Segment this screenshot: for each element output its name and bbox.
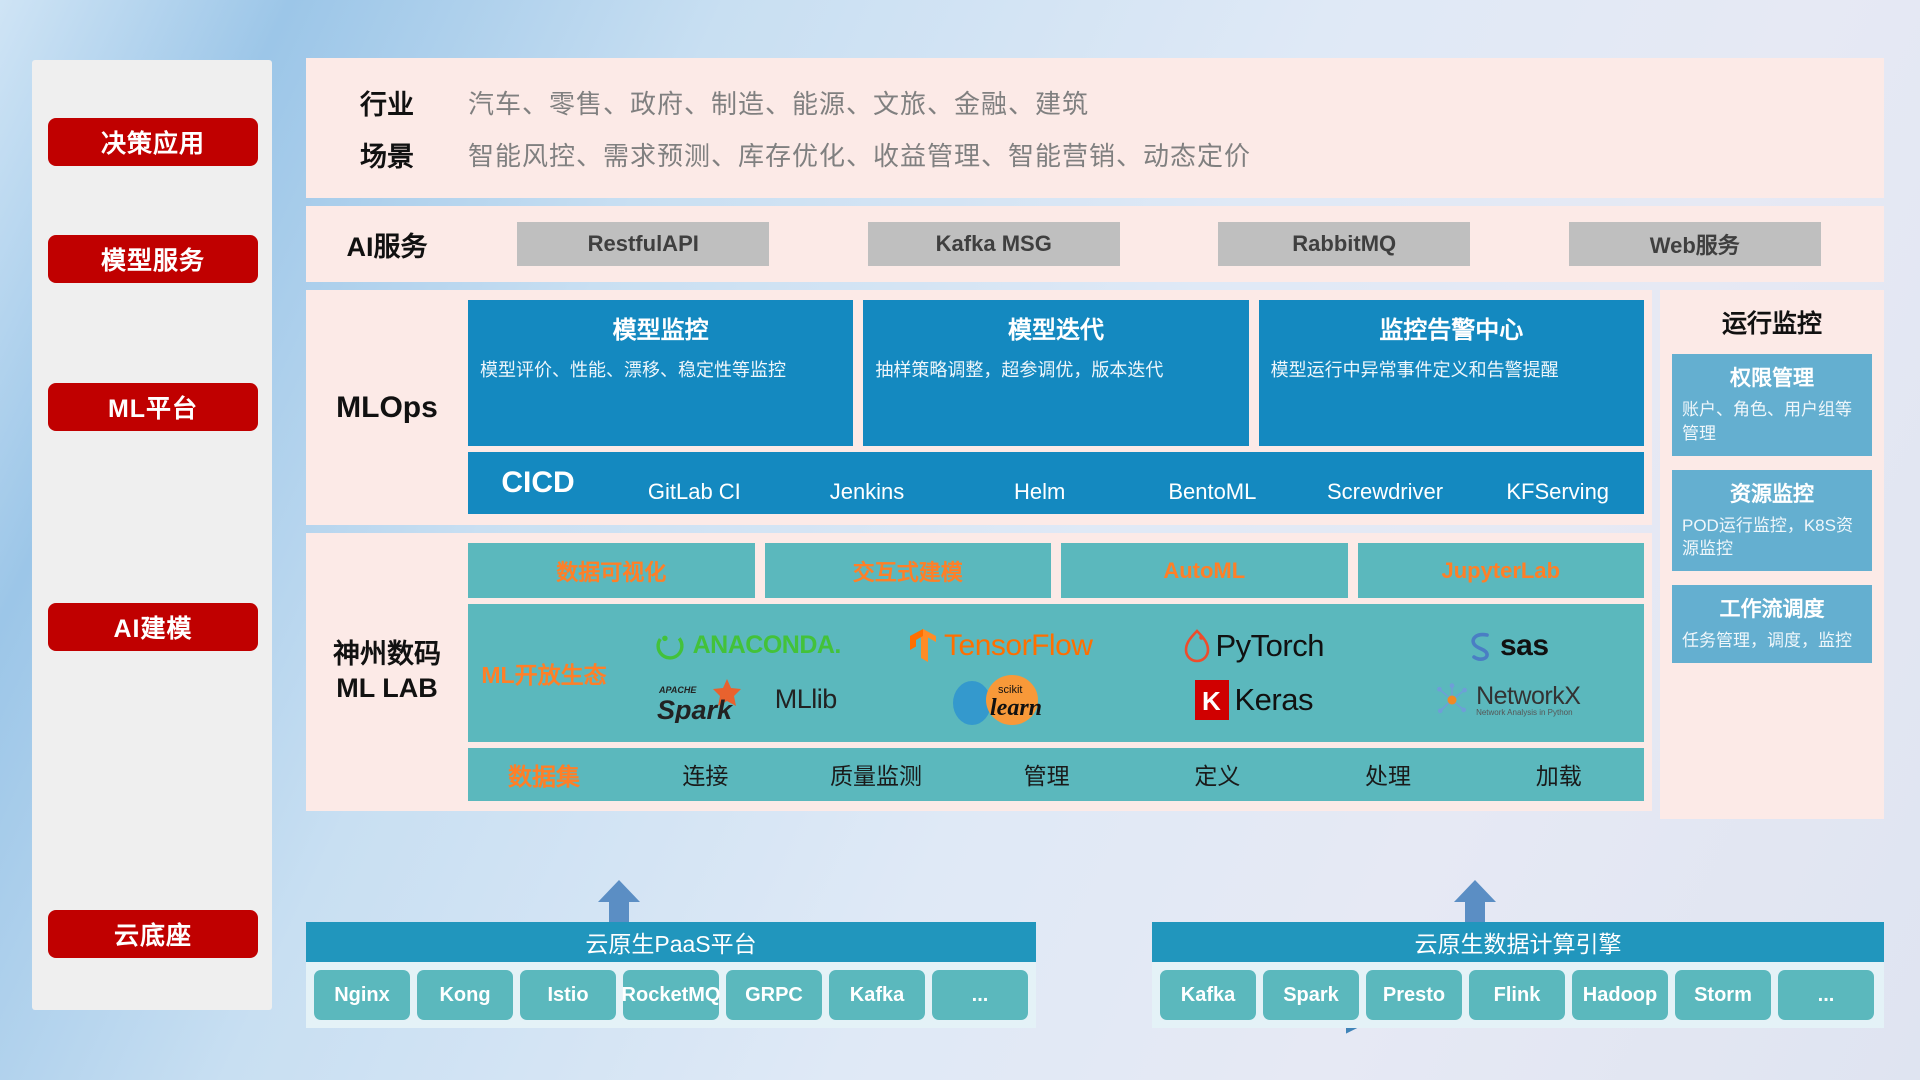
card-desc: 模型运行中异常事件定义和告警提醒	[1271, 357, 1632, 383]
stage-rail: 决策应用 模型服务 ML平台 AI建模 云底座	[32, 60, 272, 1010]
paas-chip-more[interactable]: ...	[932, 970, 1028, 1020]
logo-networkx-subtext: Network Analysis in Python	[1476, 709, 1580, 717]
dataset-item-define[interactable]: 定义	[1132, 757, 1303, 791]
anaconda-icon	[653, 629, 687, 663]
logo-sas-text: sas	[1500, 629, 1549, 663]
paas-chip-kafka[interactable]: Kafka	[829, 970, 925, 1020]
dataset-title: 数据集	[468, 757, 620, 792]
cicd-bar: CICD GitLab CI Jenkins Helm BentoML Scre…	[468, 452, 1644, 514]
engine-chip-kafka[interactable]: Kafka	[1160, 970, 1256, 1020]
cloud-foundation: 云原生PaaS平台 Nginx Kong Istio RocketMQ GRPC…	[306, 880, 1884, 1050]
card-desc: 模型评价、性能、漂移、稳定性等监控	[480, 357, 841, 383]
svg-text:learn: learn	[990, 695, 1042, 721]
mlops-card-alert-center[interactable]: 监控告警中心 模型运行中异常事件定义和告警提醒	[1259, 300, 1644, 446]
runtime-monitor-title: 运行监控	[1672, 304, 1872, 340]
engine-chip-storm[interactable]: Storm	[1675, 970, 1771, 1020]
cicd-item-screwdriver[interactable]: Screwdriver	[1299, 479, 1472, 504]
ml-ecosystem-panel: ML开放生态 ANACONDA.	[468, 604, 1644, 742]
ml-lab-label: 神州数码 ML LAB	[306, 543, 468, 801]
card-title: 工作流调度	[1682, 593, 1862, 623]
dataset-item-manage[interactable]: 管理	[961, 757, 1132, 791]
rail-item-model-service[interactable]: 模型服务	[48, 235, 258, 283]
rail-item-ai-modeling[interactable]: AI建模	[48, 603, 258, 651]
dataset-item-connect[interactable]: 连接	[620, 757, 791, 791]
cicd-item-helm[interactable]: Helm	[953, 479, 1126, 504]
card-title: 监控告警中心	[1271, 310, 1632, 345]
ml-ecosystem-logos: ANACONDA. TensorFlow	[620, 619, 1644, 727]
industry-values: 汽车、零售、政府、制造、能源、文旅、金融、建筑	[468, 84, 1089, 121]
rail-item-ml-platform[interactable]: ML平台	[48, 383, 258, 431]
keras-icon: K	[1195, 680, 1229, 720]
svg-text:APACHE: APACHE	[658, 685, 697, 695]
rail-label: ML平台	[108, 389, 198, 425]
up-arrow-icon-left	[596, 880, 642, 928]
main-stack: 行业 汽车、零售、政府、制造、能源、文旅、金融、建筑 场景 智能风控、需求预测、…	[306, 58, 1884, 819]
mlops-band: MLOps 模型监控 模型评价、性能、漂移、稳定性等监控 模型迭代 抽样策略调整…	[306, 290, 1652, 525]
dataset-item-quality-monitor[interactable]: 质量监测	[791, 757, 962, 791]
scenario-label: 场景	[306, 135, 468, 174]
apache-spark-icon: APACHE Spark	[657, 677, 769, 723]
paas-chip-grpc[interactable]: GRPC	[726, 970, 822, 1020]
scikit-learn-icon: scikit learn	[946, 673, 1054, 727]
service-box-rabbitmq[interactable]: RabbitMQ	[1218, 222, 1470, 266]
mlops-content: 模型监控 模型评价、性能、漂移、稳定性等监控 模型迭代 抽样策略调整，超参调优，…	[468, 300, 1652, 515]
logo-tensorflow-text: TensorFlow	[944, 629, 1092, 663]
svg-text:K: K	[1202, 686, 1221, 716]
rail-label: 决策应用	[101, 124, 205, 160]
dataset-item-process[interactable]: 处理	[1303, 757, 1474, 791]
ml-lab-label-line2: ML LAB	[336, 672, 438, 706]
logo-anaconda: ANACONDA.	[653, 629, 841, 663]
service-box-web[interactable]: Web服务	[1569, 222, 1821, 266]
paas-chip-list: Nginx Kong Istio RocketMQ GRPC Kafka ...	[306, 962, 1036, 1028]
logo-keras-text: Keras	[1235, 682, 1313, 718]
logo-anaconda-text: ANACONDA.	[693, 631, 841, 660]
pytorch-icon	[1184, 629, 1210, 663]
architecture-diagram: 决策应用 模型服务 ML平台 AI建模 云底座 行业 汽车、零售、政府、制造、能…	[0, 0, 1920, 1080]
dataset-item-load[interactable]: 加载	[1473, 757, 1644, 791]
up-arrow-icon-right	[1452, 880, 1498, 928]
industry-row: 行业 汽车、零售、政府、制造、能源、文旅、金融、建筑	[306, 76, 1884, 128]
rail-item-cloud-base[interactable]: 云底座	[48, 910, 258, 958]
monitor-card-workflow[interactable]: 工作流调度 任务管理，调度，监控	[1672, 585, 1872, 663]
card-title: 资源监控	[1682, 478, 1862, 508]
engine-chip-hadoop[interactable]: Hadoop	[1572, 970, 1668, 1020]
sas-icon	[1466, 630, 1494, 662]
cicd-item-kfserving[interactable]: KFServing	[1471, 479, 1644, 504]
ml-lab-label-line1: 神州数码	[333, 638, 441, 672]
ai-service-label: AI服务	[306, 225, 468, 264]
logo-sas: sas	[1466, 629, 1549, 663]
service-box-restfulapi[interactable]: RestfulAPI	[517, 222, 769, 266]
lab-tool-list: 数据可视化 交互式建模 AutoML JupyterLab	[468, 543, 1644, 598]
industry-label: 行业	[306, 83, 468, 122]
paas-chip-istio[interactable]: Istio	[520, 970, 616, 1020]
paas-platform-group: 云原生PaaS平台 Nginx Kong Istio RocketMQ GRPC…	[306, 922, 1036, 1028]
cicd-item-jenkins[interactable]: Jenkins	[781, 479, 954, 504]
ml-lab-band: 神州数码 ML LAB 数据可视化 交互式建模 AutoML JupyterLa…	[306, 533, 1652, 811]
mlops-card-list: 模型监控 模型评价、性能、漂移、稳定性等监控 模型迭代 抽样策略调整，超参调优，…	[468, 300, 1644, 446]
logo-tensorflow: TensorFlow	[908, 628, 1092, 664]
cicd-item-gitlab-ci[interactable]: GitLab CI	[608, 479, 781, 504]
paas-chip-nginx[interactable]: Nginx	[314, 970, 410, 1020]
cicd-title: CICD	[468, 466, 608, 500]
data-engine-header: 云原生数据计算引擎	[1152, 922, 1884, 962]
logo-mllib-text: MLlib	[775, 684, 837, 715]
card-desc: 抽样策略调整，超参调优，版本迭代	[875, 357, 1236, 383]
ml-lab-content: 数据可视化 交互式建模 AutoML JupyterLab ML开放生态	[468, 543, 1652, 801]
paas-chip-kong[interactable]: Kong	[417, 970, 513, 1020]
rail-label: 模型服务	[101, 241, 205, 277]
card-title: 模型迭代	[875, 310, 1236, 345]
mlops-card-model-monitoring[interactable]: 模型监控 模型评价、性能、漂移、稳定性等监控	[468, 300, 853, 446]
dataset-bar: 数据集 连接 质量监测 管理 定义 处理 加载	[468, 748, 1644, 801]
card-desc: 账户、角色、用户组等管理	[1682, 398, 1862, 446]
rail-label: 云底座	[114, 916, 192, 952]
paas-chip-rocketmq[interactable]: RocketMQ	[623, 970, 719, 1020]
runtime-monitor-column: 运行监控 权限管理 账户、角色、用户组等管理 资源监控 POD运行监控，K8S资…	[1660, 290, 1884, 819]
card-title: 权限管理	[1682, 362, 1862, 392]
engine-chip-presto[interactable]: Presto	[1366, 970, 1462, 1020]
dataset-item-list: 连接 质量监测 管理 定义 处理 加载	[620, 757, 1644, 791]
logo-networkx: NetworkX Network Analysis in Python	[1434, 682, 1580, 718]
rail-item-decision-apps[interactable]: 决策应用	[48, 118, 258, 166]
data-engine-chip-list: Kafka Spark Presto Flink Hadoop Storm ..…	[1152, 962, 1884, 1028]
service-box-kafka-msg[interactable]: Kafka MSG	[868, 222, 1120, 266]
lab-tool-automl[interactable]: AutoML	[1061, 543, 1348, 598]
monitor-card-resource[interactable]: 资源监控 POD运行监控，K8S资源监控	[1672, 470, 1872, 572]
paas-platform-header: 云原生PaaS平台	[306, 922, 1036, 962]
platform-and-monitor: MLOps 模型监控 模型评价、性能、漂移、稳定性等监控 模型迭代 抽样策略调整…	[306, 290, 1884, 819]
rail-label: AI建模	[113, 609, 192, 645]
card-title: 模型监控	[480, 310, 841, 345]
engine-chip-more[interactable]: ...	[1778, 970, 1874, 1020]
platform-column: MLOps 模型监控 模型评价、性能、漂移、稳定性等监控 模型迭代 抽样策略调整…	[306, 290, 1652, 819]
ai-service-list: RestfulAPI Kafka MSG RabbitMQ Web服务	[468, 222, 1884, 266]
logo-keras: K Keras	[1195, 680, 1313, 720]
lab-tool-jupyterlab[interactable]: JupyterLab	[1358, 543, 1645, 598]
decision-apps-band: 行业 汽车、零售、政府、制造、能源、文旅、金融、建筑 场景 智能风控、需求预测、…	[306, 58, 1884, 198]
logo-networkx-text: NetworkX	[1476, 683, 1580, 709]
cicd-item-bentoml[interactable]: BentoML	[1126, 479, 1299, 504]
logo-pytorch-text: PyTorch	[1216, 628, 1324, 664]
logo-pytorch: PyTorch	[1184, 628, 1324, 664]
svg-text:Spark: Spark	[657, 695, 734, 723]
monitor-card-permission[interactable]: 权限管理 账户、角色、用户组等管理	[1672, 354, 1872, 456]
cicd-item-list: GitLab CI Jenkins Helm BentoML Screwdriv…	[608, 461, 1644, 504]
mlops-card-model-iteration[interactable]: 模型迭代 抽样策略调整，超参调优，版本迭代	[863, 300, 1248, 446]
ai-service-band: AI服务 RestfulAPI Kafka MSG RabbitMQ Web服务	[306, 206, 1884, 282]
logo-spark-mllib: APACHE Spark MLlib	[657, 677, 837, 723]
card-desc: 任务管理，调度，监控	[1682, 629, 1862, 653]
engine-chip-spark[interactable]: Spark	[1263, 970, 1359, 1020]
lab-tool-data-visualization[interactable]: 数据可视化	[468, 543, 755, 598]
tensorflow-icon	[908, 628, 938, 664]
lab-tool-interactive-modeling[interactable]: 交互式建模	[765, 543, 1052, 598]
logo-scikit-learn: scikit learn	[946, 673, 1054, 727]
engine-chip-flink[interactable]: Flink	[1469, 970, 1565, 1020]
card-desc: POD运行监控，K8S资源监控	[1682, 514, 1862, 562]
data-engine-group: 云原生数据计算引擎 Kafka Spark Presto Flink Hadoo…	[1152, 922, 1884, 1028]
ml-ecosystem-label: ML开放生态	[468, 656, 620, 690]
scenario-row: 场景 智能风控、需求预测、库存优化、收益管理、智能营销、动态定价	[306, 128, 1884, 180]
mlops-label: MLOps	[306, 300, 468, 515]
scenario-values: 智能风控、需求预测、库存优化、收益管理、智能营销、动态定价	[468, 136, 1251, 173]
networkx-icon	[1434, 682, 1470, 718]
